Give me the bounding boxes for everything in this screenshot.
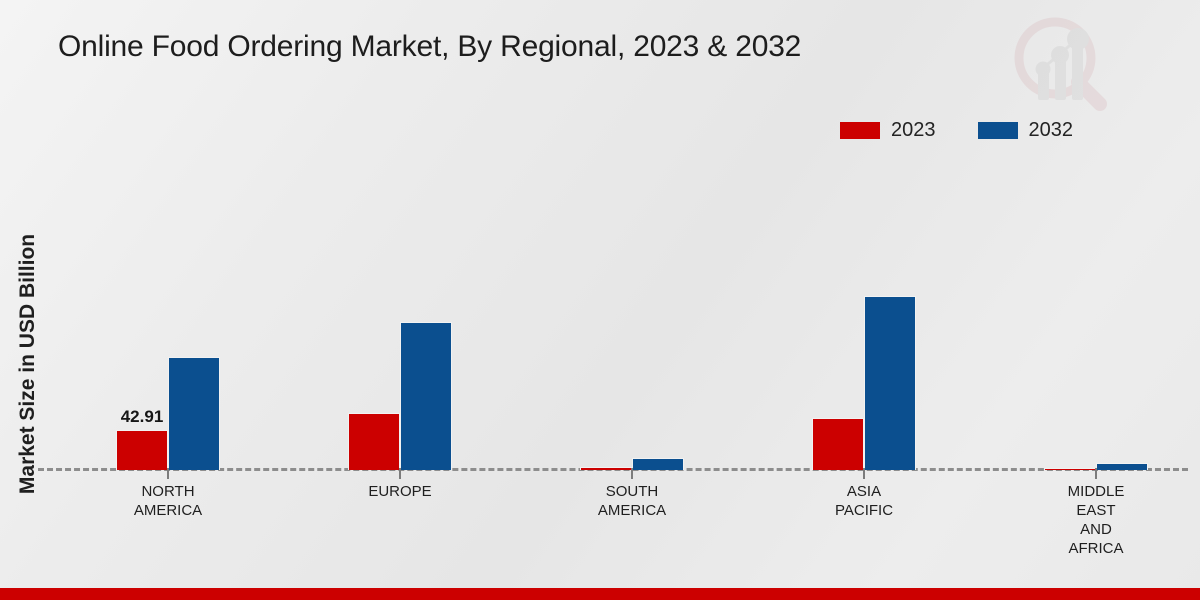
bar-group-asia-pacific: ASIA PACIFIC xyxy=(764,160,964,470)
chart-legend: 2023 2032 xyxy=(840,120,1073,140)
bar-2032-south-america[interactable] xyxy=(632,458,684,470)
y-axis-title: Market Size in USD Billion xyxy=(16,184,40,544)
legend-label-2032: 2032 xyxy=(1029,120,1074,140)
legend-swatch-2023 xyxy=(840,122,880,139)
bar-2032-middle-east-and-africa[interactable] xyxy=(1096,463,1148,470)
bar-2032-europe[interactable] xyxy=(400,322,452,470)
bar-2023-asia-pacific[interactable] xyxy=(812,418,864,470)
magnifier-bar-chart-logo-watermark xyxy=(1008,12,1112,112)
page-title: Online Food Ordering Market, By Regional… xyxy=(58,30,801,64)
bar-2023-south-america[interactable] xyxy=(580,467,632,470)
x-axis-tick-middle-east-and-africa xyxy=(1095,468,1097,479)
bar-2023-north-america[interactable]: 42.91 xyxy=(116,430,168,470)
bar-2023-europe[interactable] xyxy=(348,413,400,470)
plot-area: 42.91 NORTH AMERICA EUROPE SOUTH AMERICA xyxy=(38,160,1188,470)
bottom-accent-band xyxy=(0,588,1200,600)
legend-swatch-2032 xyxy=(978,122,1018,139)
legend-label-2023: 2023 xyxy=(891,120,936,140)
x-axis-label-asia-pacific: ASIA PACIFIC xyxy=(835,482,893,520)
bar-2023-middle-east-and-africa[interactable] xyxy=(1044,468,1096,470)
bar-group-south-america: SOUTH AMERICA xyxy=(532,160,732,470)
legend-item-2023[interactable]: 2023 xyxy=(840,120,936,140)
x-axis-label-europe: EUROPE xyxy=(368,482,431,501)
x-axis-tick-europe xyxy=(399,468,401,479)
x-axis-label-middle-east-and-africa: MIDDLE EAST AND AFRICA xyxy=(1068,482,1125,558)
chart-page: Online Food Ordering Market, By Regional… xyxy=(0,0,1200,600)
bar-2032-north-america[interactable] xyxy=(168,357,220,470)
bar-value-2023-north-america: 42.91 xyxy=(121,407,164,427)
bar-group-europe: EUROPE xyxy=(300,160,500,470)
bar-group-north-america: 42.91 NORTH AMERICA xyxy=(68,160,268,470)
bar-group-middle-east-and-africa: MIDDLE EAST AND AFRICA xyxy=(996,160,1196,470)
x-axis-tick-north-america xyxy=(167,468,169,479)
x-axis-tick-south-america xyxy=(631,468,633,479)
legend-item-2032[interactable]: 2032 xyxy=(978,120,1074,140)
x-axis-tick-asia-pacific xyxy=(863,468,865,479)
x-axis-label-north-america: NORTH AMERICA xyxy=(134,482,202,520)
x-axis-label-south-america: SOUTH AMERICA xyxy=(598,482,666,520)
bar-2032-asia-pacific[interactable] xyxy=(864,296,916,470)
